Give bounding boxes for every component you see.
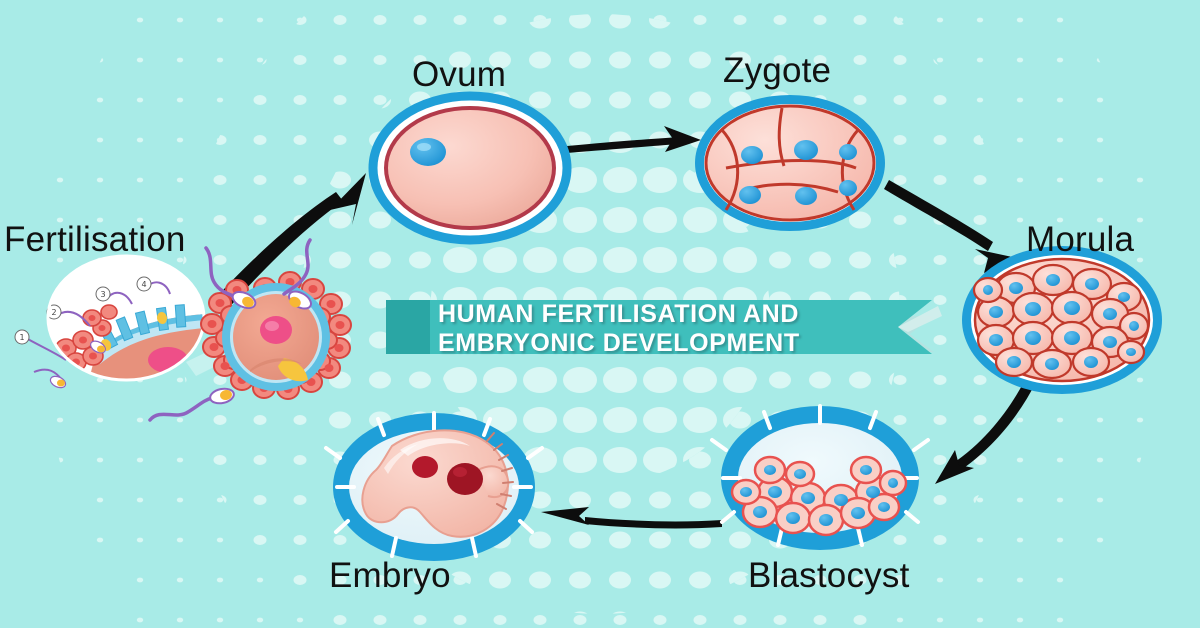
arrow-zygote-to-morula — [884, 180, 1017, 273]
label-embryo: Embryo — [329, 558, 451, 593]
illustration-morula — [962, 246, 1162, 394]
banner-title-line1: HUMAN FERTILISATION AND — [438, 300, 908, 329]
fertilisation-inset: 12 34 — [15, 256, 212, 392]
arrow-fertilisation-to-ovum — [212, 173, 366, 311]
banner-title-text: HUMAN FERTILISATION AND EMBRYONIC DEVELO… — [438, 300, 908, 358]
illustration-blastocyst — [712, 406, 928, 550]
fertilisation-ovum — [201, 272, 351, 399]
sperm-group — [150, 240, 314, 420]
infographic-canvas: 12 34 — [0, 0, 1200, 628]
title-banner: HUMAN FERTILISATION AND EMBRYONIC DEVELO… — [386, 294, 946, 360]
svg-text:3: 3 — [100, 290, 105, 299]
illustration-fertilisation: 12 34 — [15, 240, 351, 420]
svg-text:2: 2 — [51, 308, 56, 317]
label-zygote: Zygote — [723, 53, 831, 88]
banner-title-line2: EMBRYONIC DEVELOPMENT — [438, 329, 908, 358]
svg-text:1: 1 — [19, 333, 24, 342]
svg-text:4: 4 — [141, 280, 146, 289]
arrow-blastocyst-to-embryo — [541, 507, 722, 528]
illustration-zygote — [695, 95, 885, 231]
label-blastocyst: Blastocyst — [748, 558, 910, 593]
label-fertilisation: Fertilisation — [4, 222, 186, 257]
illustration-embryo — [326, 413, 542, 561]
arrow-morula-to-blastocyst — [935, 378, 1036, 484]
label-ovum: Ovum — [412, 57, 506, 92]
illustration-ovum — [372, 95, 568, 241]
label-morula: Morula — [1026, 222, 1134, 257]
arrow-ovum-to-zygote — [567, 126, 701, 153]
